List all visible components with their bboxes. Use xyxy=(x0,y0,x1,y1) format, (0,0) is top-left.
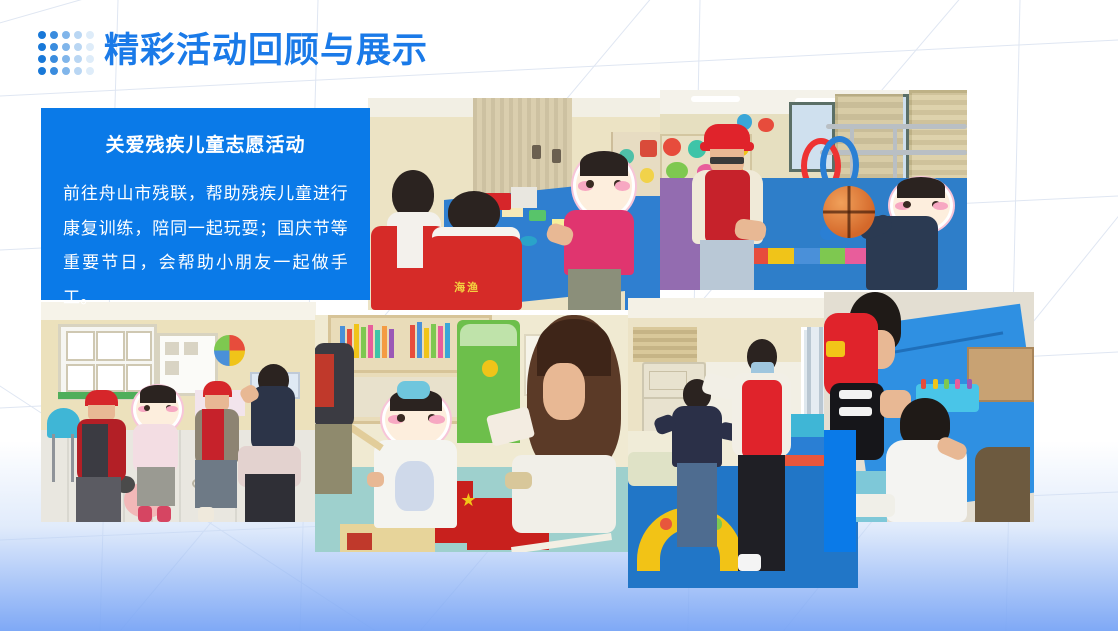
photo-paper-craft: ★ xyxy=(315,315,631,552)
slide-header: 精彩活动回顾与展示 xyxy=(0,0,1118,100)
star-shape: ★ xyxy=(460,491,476,509)
photo-classroom-seated xyxy=(41,302,316,522)
accent-bar-left xyxy=(824,430,856,552)
photo-craft-table-volunteers: 海渔 xyxy=(368,98,660,310)
caption-title: 关爱残疾儿童志愿活动 xyxy=(63,134,348,159)
slide-canvas: 精彩活动回顾与展示 xyxy=(0,0,1118,631)
dot-grid-decoration xyxy=(38,31,94,75)
caption-card: 关爱残疾儿童志愿活动 前往舟山市残联，帮助残疾儿童进行康复训练，陪同一起玩耍；国… xyxy=(41,108,370,300)
page-title: 精彩活动回顾与展示 xyxy=(104,30,428,72)
caption-body: 前往舟山市残联，帮助残疾儿童进行康复训练，陪同一起玩耍；国庆节等重要节日，会帮助… xyxy=(63,177,348,316)
photo-basketball-training xyxy=(660,90,967,290)
